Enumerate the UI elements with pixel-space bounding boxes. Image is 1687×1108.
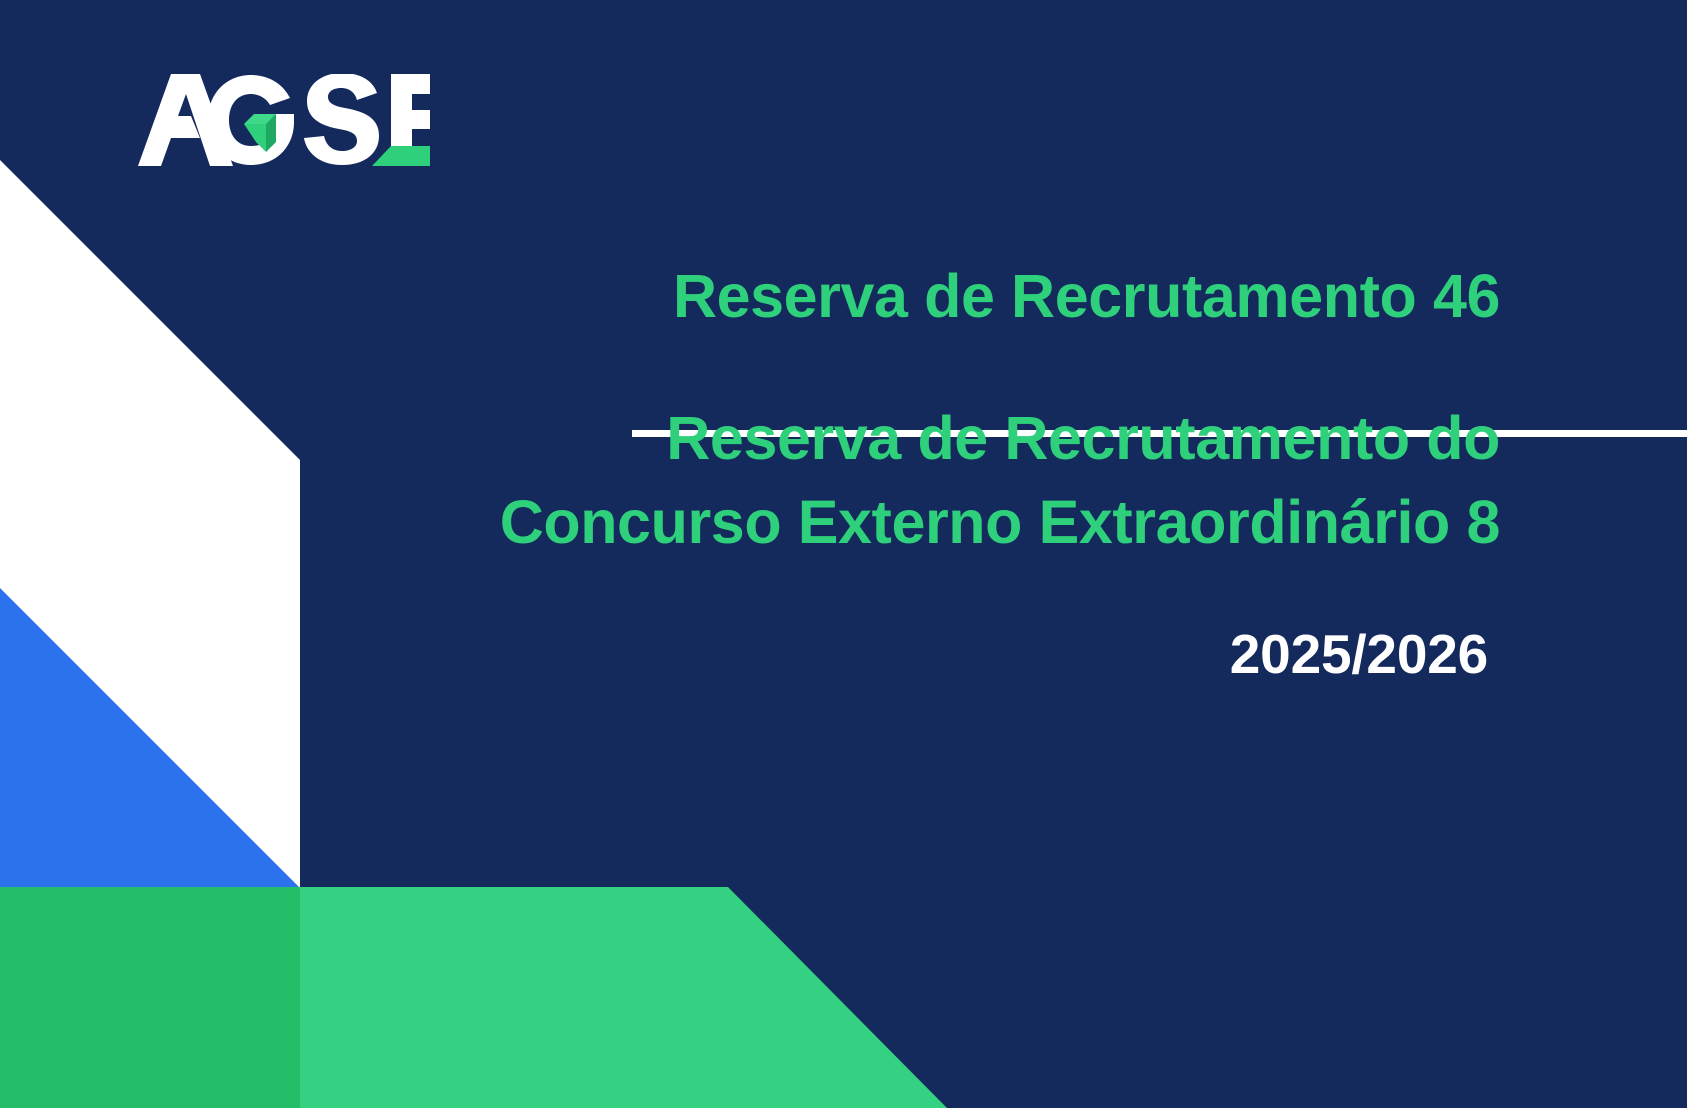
logo-green-foot-icon [372,146,430,166]
white-diagonal-shape [0,160,300,1108]
banner-subtitle: Reserva de Recrutamento do Concurso Exte… [330,330,1500,564]
banner-title: Reserva de Recrutamento 46 [330,262,1500,330]
banner-year: 2025/2026 [330,565,1500,682]
banner-text-block: Reserva de Recrutamento 46 Reserva de Re… [330,262,1500,682]
blue-triangle-shape [0,588,300,888]
banner-subtitle-line-2: Concurso Externo Extraordinário 8 [500,488,1500,556]
logo-letter-e [372,74,430,166]
logo-letter-s [304,74,379,165]
green-dark-block [0,887,300,1108]
banner-subtitle-line-1: Reserva de Recrutamento do [666,404,1500,472]
green-parallelogram [300,887,947,1108]
banner-canvas: AGSE Reserva de Recr [0,0,1687,1108]
agse-logo[interactable]: AGSE [138,74,430,166]
